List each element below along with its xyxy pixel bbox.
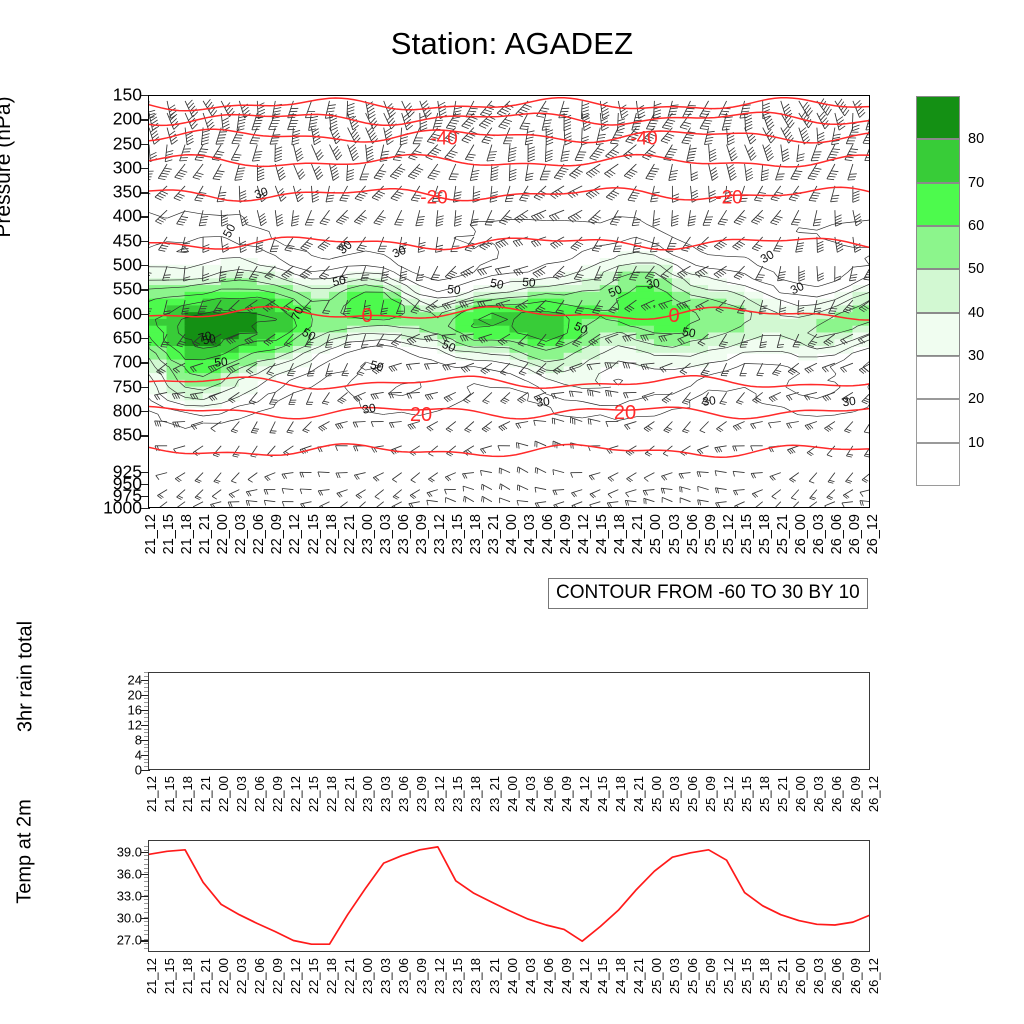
xtick-label: 25_03 [667,776,682,812]
xtick-label: 24_09 [558,514,574,554]
temp-tick-label: 30.0 [96,911,142,926]
temp-plot-svg [149,841,870,952]
xtick-label: 25_00 [649,776,664,812]
xtick-label: 25_03 [667,958,682,994]
temp-panel-ytick-labels: 27.030.033.036.039.0 [82,840,142,952]
pressure-tick-mark [141,508,150,509]
colorbar-label: 80 [968,131,984,147]
xtick-label: 24_06 [541,776,556,812]
xtick-label: 24_00 [504,514,520,554]
xtick-label: 25_12 [721,514,737,554]
xtick-label: 23_12 [432,958,447,994]
pressure-tick-label: 300 [78,157,142,178]
xtick-label: 23_21 [487,776,502,812]
pressure-tick-label: 350 [78,182,142,203]
xtick-label: 23_06 [396,958,411,994]
xtick-label: 22_15 [306,514,322,554]
xtick-label: 23_09 [414,958,429,994]
colorbar-cell [916,139,960,182]
xtick-label: 26_09 [848,776,863,812]
xtick-label: 25_12 [721,776,736,812]
xtick-label: 26_09 [847,514,863,554]
xtick-label: 25_18 [757,776,772,812]
xtick-label: 26_00 [793,958,808,994]
main-panel-ytick-labels: 1502002503003504004505005506006507007508… [74,95,142,508]
xtick-label: 25_15 [739,776,754,812]
rain-tick-mark [141,770,150,771]
colorbar-label: 70 [968,175,984,191]
xtick-label: 24_18 [613,776,628,812]
xtick-label: 26_06 [829,958,844,994]
xtick-label: 24_12 [577,776,592,812]
temp-tick-label: 27.0 [96,933,142,948]
temp-tick-label: 36.0 [96,866,142,881]
xtick-label: 25_06 [685,776,700,812]
xtick-label: 22_00 [216,776,231,812]
xtick-label: 23_00 [360,776,375,812]
contour-label: 20 [614,402,636,424]
xtick-label: 22_15 [306,958,321,994]
xtick-label: 24_15 [594,514,610,554]
xtick-label: 26_12 [865,514,881,554]
xtick-label: 22_06 [252,776,267,812]
temp-panel-ylabel: Temp at 2m [14,737,37,967]
rain-tick-label: 0 [96,763,142,778]
xtick-label: 21_21 [198,776,213,812]
xtick-label: 23_09 [414,776,429,812]
pressure-tick-label: 700 [78,352,142,373]
xtick-label: 22_06 [251,514,267,554]
xtick-label: 23_03 [378,958,393,994]
xtick-label: 22_18 [324,958,339,994]
xtick-label: 25_12 [721,958,736,994]
humidity-colorbar: 1020304050607080 [916,96,960,486]
xtick-label: 23_15 [450,958,465,994]
xtick-label: 24_15 [595,776,610,812]
contour-label: -40 [430,129,457,150]
xtick-label: 26_00 [793,776,808,812]
rain-plot-svg [149,673,870,770]
xtick-label: 25_09 [703,958,718,994]
xtick-label: 25_03 [667,514,683,554]
rain-tick-label: 8 [96,732,142,747]
contour-label: 50 [369,357,386,374]
rain-tick-label: 12 [96,717,142,732]
page-title: Station: AGADEZ [0,26,1024,62]
xtick-label: 26_12 [866,958,881,994]
xtick-label: 24_09 [559,776,574,812]
contour-label: 50 [489,276,505,292]
xtick-label: 21_15 [162,776,177,812]
contour-label: -20 [420,187,447,208]
xtick-label: 25_21 [775,514,791,554]
main-panel-xtick-labels: 21_1221_1521_1821_2122_0022_0322_0622_09… [148,514,870,578]
xtick-label: 25_15 [739,958,754,994]
xtick-label: 24_03 [523,776,538,812]
contour-label: 0 [668,305,679,327]
temp-panel-xtick-labels: 21_1221_1521_1821_2122_0022_0322_0622_09… [148,958,870,1022]
xtick-label: 25_21 [775,958,790,994]
xtick-label: 21_12 [144,776,159,812]
xtick-label: 21_18 [179,514,195,554]
temp-tick-label: 39.0 [96,844,142,859]
xtick-label: 22_00 [215,514,231,554]
xtick-label: 22_12 [288,776,303,812]
rain-panel-xtick-labels: 21_1221_1521_1821_2122_0022_0322_0622_09… [148,776,870,840]
colorbar-cell [916,399,960,442]
xtick-label: 24_06 [541,958,556,994]
xtick-label: 23_15 [450,514,466,554]
contour-label: 50 [447,282,462,297]
colorbar-cell [916,183,960,226]
xtick-label: 26_06 [829,514,845,554]
colorbar-cell [916,443,960,486]
temp-tick-label: 33.0 [96,889,142,904]
xtick-label: 24_12 [577,958,592,994]
pressure-tick-label: 150 [78,85,142,106]
colorbar-cell [916,356,960,399]
xtick-label: 26_00 [793,514,809,554]
cross-section-svg: -40-40-20-200020203050303050505070705050… [149,96,870,508]
pressure-tick-label: 500 [78,255,142,276]
xtick-label: 23_00 [360,514,376,554]
rain-panel-ytick-labels: 04812162024 [92,672,142,770]
xtick-label: 25_00 [648,514,664,554]
xtick-label: 22_21 [342,776,357,812]
xtick-label: 24_21 [631,958,646,994]
rain-tick-label: 4 [96,747,142,762]
colorbar-label: 40 [968,305,984,321]
xtick-label: 23_12 [432,514,448,554]
xtick-label: 23_09 [414,514,430,554]
xtick-label: 25_18 [757,514,773,554]
xtick-label: 21_18 [180,776,195,812]
xtick-label: 22_03 [234,776,249,812]
main-panel-ylabel: Pressure (hPa) [0,67,16,267]
xtick-label: 23_06 [396,776,411,812]
xtick-label: 23_18 [468,958,483,994]
contour-label: 50 [214,354,229,369]
xtick-label: 24_15 [595,958,610,994]
xtick-label: 24_18 [612,514,628,554]
xtick-label: 24_03 [523,958,538,994]
xtick-label: 23_03 [378,514,394,554]
pressure-tick-label: 800 [78,400,142,421]
xtick-label: 21_15 [162,958,177,994]
colorbar-label: 20 [968,391,984,407]
colorbar-label: 50 [968,261,984,277]
pressure-tick-label: 550 [78,279,142,300]
rain-tick-label: 24 [96,672,142,687]
contour-label: 50 [522,275,537,290]
xtick-label: 25_15 [739,514,755,554]
colorbar-label: 60 [968,218,984,234]
xtick-label: 21_12 [144,958,159,994]
pressure-tick-label: 250 [78,133,142,154]
xtick-label: 24_03 [522,514,538,554]
xtick-label: 23_12 [432,776,447,812]
xtick-label: 26_12 [866,776,881,812]
contour-label: 30 [361,401,377,417]
xtick-label: 23_18 [468,514,484,554]
colorbar-cell [916,226,960,269]
pressure-tick-label: 400 [78,206,142,227]
contour-label: -20 [715,187,742,208]
pressure-tick-label: 450 [78,230,142,251]
contour-label: 0 [361,305,372,327]
xtick-label: 25_06 [685,514,701,554]
xtick-label: 23_18 [468,776,483,812]
contour-label: 50 [681,324,697,340]
xtick-label: 22_18 [324,776,339,812]
xtick-label: 21_18 [180,958,195,994]
xtick-label: 24_00 [505,958,520,994]
xtick-label: 25_09 [703,776,718,812]
contour-label: 30 [701,393,716,409]
pressure-tick-label: 1000 [78,498,142,519]
xtick-label: 23_06 [396,514,412,554]
contour-label: 30 [841,394,856,410]
xtick-label: 22_03 [234,958,249,994]
xtick-label: 25_09 [703,514,719,554]
xtick-label: 23_00 [360,958,375,994]
xtick-label: 24_09 [559,958,574,994]
contour-label: 30 [535,394,550,410]
xtick-label: 22_18 [324,514,340,554]
rain-plot[interactable] [148,672,870,770]
colorbar-cell [916,313,960,356]
xtick-label: 26_09 [848,958,863,994]
pressure-tick-label: 200 [78,109,142,130]
xtick-label: 22_21 [342,514,358,554]
xtick-label: 24_12 [576,514,592,554]
contour-label: 20 [410,404,432,426]
colorbar-cell [916,269,960,312]
temp-plot[interactable] [148,840,870,952]
xtick-label: 22_09 [270,958,285,994]
xtick-label: 25_00 [649,958,664,994]
xtick-label: 25_06 [685,958,700,994]
colorbar-label: 30 [968,348,984,364]
pressure-tick-label: 850 [78,425,142,446]
xtick-label: 22_12 [287,514,303,554]
xtick-label: 21_21 [197,514,213,554]
rain-tick-label: 16 [96,702,142,717]
cross-section-plot[interactable]: -40-40-20-200020203050303050505070705050… [148,95,870,508]
xtick-label: 26_03 [811,958,826,994]
xtick-label: 24_18 [613,958,628,994]
xtick-label: 23_15 [450,776,465,812]
xtick-label: 24_00 [505,776,520,812]
xtick-label: 24_21 [631,776,646,812]
colorbar-label: 10 [968,435,984,451]
xtick-label: 22_06 [252,958,267,994]
xtick-label: 23_21 [486,514,502,554]
rain-tick-label: 20 [96,687,142,702]
xtick-label: 22_09 [270,776,285,812]
xtick-label: 25_21 [775,776,790,812]
xtick-label: 22_03 [233,514,249,554]
xtick-label: 22_15 [306,776,321,812]
pressure-tick-label: 750 [78,376,142,397]
contour-label: 30 [645,276,661,292]
xtick-label: 21_12 [143,514,159,554]
xtick-label: 22_09 [269,514,285,554]
colorbar-cell [916,96,960,139]
xtick-label: 24_21 [630,514,646,554]
xtick-label: 23_21 [487,958,502,994]
xtick-label: 26_06 [829,776,844,812]
xtick-label: 22_21 [342,958,357,994]
xtick-label: 25_18 [757,958,772,994]
xtick-label: 21_21 [198,958,213,994]
contour-range-note: CONTOUR FROM -60 TO 30 BY 10 [548,578,868,609]
xtick-label: 22_12 [288,958,303,994]
xtick-label: 22_00 [216,958,231,994]
xtick-label: 26_03 [811,776,826,812]
temp-line [149,847,870,944]
contour-label: -40 [630,129,657,150]
xtick-label: 26_03 [811,514,827,554]
contour-label: 30 [253,184,270,202]
xtick-label: 24_06 [540,514,556,554]
xtick-label: 23_03 [378,776,393,812]
pressure-tick-label: 650 [78,327,142,348]
pressure-tick-label: 600 [78,303,142,324]
xtick-label: 21_15 [161,514,177,554]
